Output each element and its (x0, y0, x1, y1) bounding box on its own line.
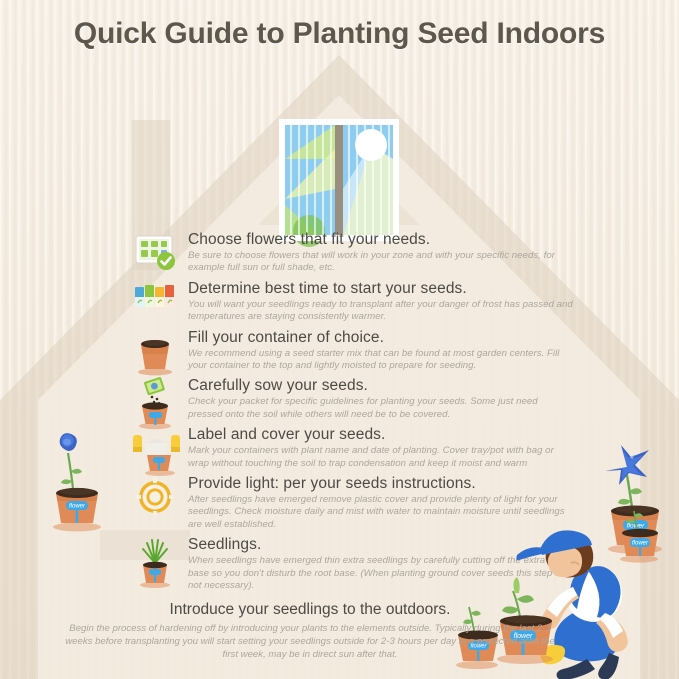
sunny-window-icon (279, 119, 399, 241)
step-body: You will want your seedlings ready to tr… (188, 299, 573, 324)
step-heading: Fill your container of choice. (188, 328, 573, 347)
footer-section: Introduce your seedlings to the outdoors… (60, 600, 560, 661)
step-body: Check your packet for specific guideline… (188, 396, 573, 421)
pot-label-left: flower (69, 504, 86, 510)
step-heading: Choose flowers that fit your needs. (188, 230, 573, 249)
page-title: Quick Guide to Planting Seed Indoors (0, 17, 679, 51)
potted-blue-flower-icon: flower (44, 421, 110, 533)
step-heading: Label and cover your seeds. (188, 425, 573, 444)
seed-catalog-icon (133, 232, 183, 280)
filled-pot-icon (133, 330, 183, 378)
footer-body: Begin the process of hardening off by in… (60, 622, 560, 661)
step-body: Be sure to choose flowers that will work… (188, 250, 573, 275)
step-item: Choose flowers that fit your needs. Be s… (133, 230, 573, 275)
svg-text:flower: flower (632, 541, 649, 547)
sun-light-ring-icon (133, 476, 183, 524)
step-body: We recommend using a seed starter mix th… (188, 348, 573, 373)
step-body: Mark your containers with plant name and… (188, 445, 573, 470)
step-item: Label and cover your seeds. Mark your co… (133, 425, 573, 470)
upper-potted-seedling: flower (620, 511, 658, 563)
seedling-pot-icon (133, 537, 183, 585)
step-heading: Carefully sow your seeds. (188, 376, 573, 395)
footer-heading: Introduce your seedlings to the outdoors… (60, 600, 560, 620)
step-item: Carefully sow your seeds. Check your pac… (133, 376, 573, 421)
step-heading: Determine best time to start your seeds. (188, 279, 573, 298)
gloves-covered-pot-icon (133, 427, 183, 475)
right-glove (171, 435, 180, 452)
step-heading: Provide light: per your seeds instructio… (188, 474, 573, 493)
step-item: Fill your container of choice. We recomm… (133, 328, 573, 373)
seed-packets-icon (133, 281, 183, 329)
step-item: Determine best time to start your seeds.… (133, 279, 573, 324)
gardener-head (516, 530, 593, 577)
left-glove (133, 435, 142, 452)
sowing-seeds-icon (133, 378, 183, 426)
infographic-poster: Quick Guide to Planting Seed Indoors (0, 0, 679, 679)
